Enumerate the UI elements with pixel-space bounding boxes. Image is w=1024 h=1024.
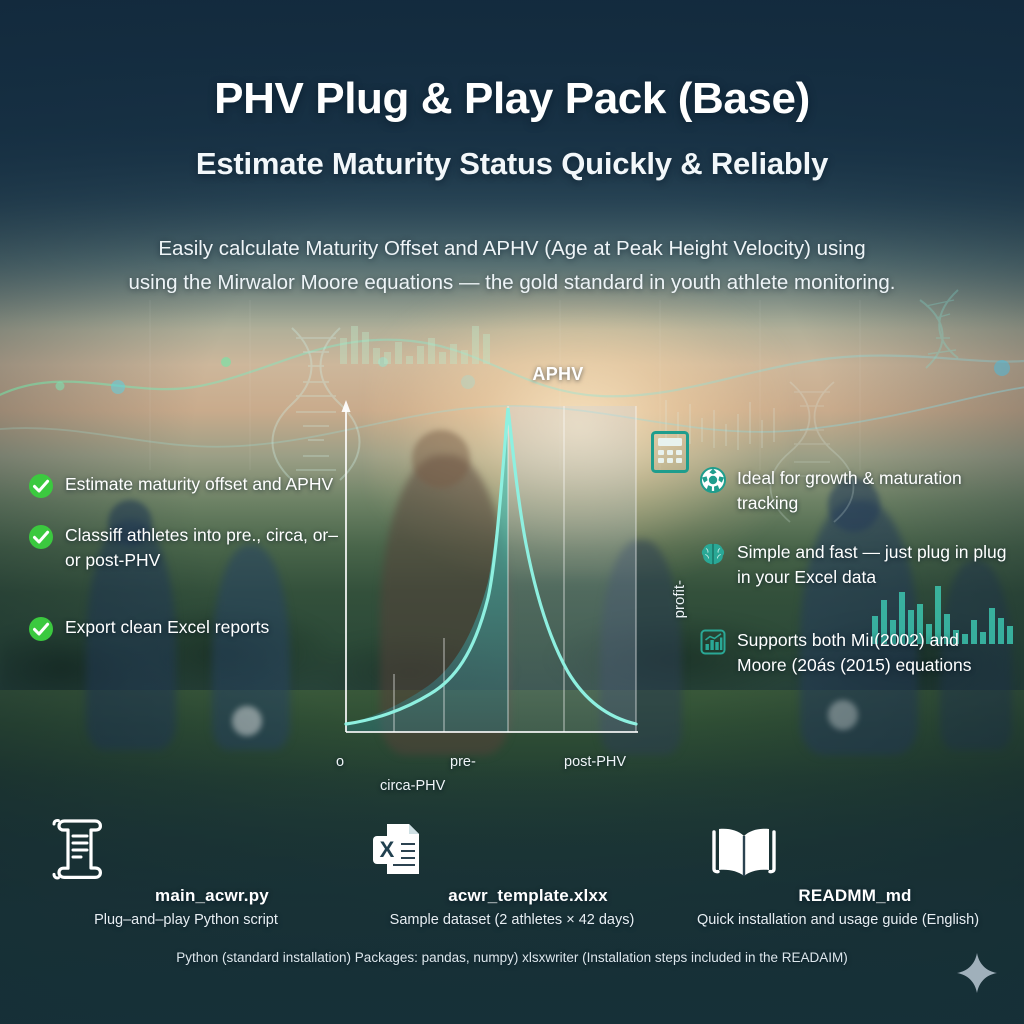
green-check-icon (28, 524, 54, 550)
lede-line-2: using the Mirwalor Moore equations — the… (62, 266, 962, 300)
feature-item: Classiff athletes into pre., circa, or–o… (28, 523, 348, 573)
file-card-excel-template[interactable]: X acwr_template.xlxx Sample dataset (2 a… (349, 818, 675, 928)
chart-plot-area (332, 392, 672, 752)
script-scroll-icon (49, 818, 105, 880)
feature-item: Estimate maturity offset and APHV (28, 472, 348, 499)
feature-label: Simple and fast — just plug in plug in y… (737, 540, 1012, 590)
file-description: Sample dataset (2 athletes × 42 days) (349, 912, 675, 928)
feature-label: Supports both Miı(2002) and Moore (20ás … (737, 628, 1012, 678)
chart-peak-label: APHV (388, 364, 728, 385)
green-check-icon (28, 616, 54, 642)
feature-label: Export clean Excel reports (65, 615, 269, 640)
feature-list-left: Estimate maturity offset and APHV Classi… (28, 472, 348, 666)
chart-tick-post-phv: post-PHV (564, 754, 626, 770)
chart-tick-pre: pre- (450, 754, 476, 770)
lede-line-1: Easily calculate Maturity Offset and APH… (62, 232, 962, 266)
calculator-icon (651, 431, 689, 473)
page-subtitle: Estimate Maturity Status Quickly & Relia… (0, 146, 1024, 182)
poster-canvas: PHV Plug & Play Pack (Base) Estimate Mat… (0, 0, 1024, 1024)
svg-text:X: X (380, 837, 395, 862)
file-icon-wrap: X (349, 818, 675, 880)
file-name: READMM_md (709, 886, 1001, 906)
page-lede: Easily calculate Maturity Offset and APH… (62, 232, 962, 300)
file-icon-wrap (23, 818, 349, 880)
green-check-icon (28, 473, 54, 499)
feature-item: Simple and fast — just plug in plug in y… (700, 540, 1012, 590)
feature-label: Classiff athletes into pre., circa, or–o… (65, 523, 348, 573)
chart-y-axis-label: profit- (671, 580, 688, 618)
open-book-icon (711, 824, 777, 880)
feature-label: Estimate maturity offset and APHV (65, 472, 333, 497)
chart-tick-circa-phv: circa-PHV (380, 778, 445, 794)
footer-note: Python (standard installation) Packages:… (0, 950, 1024, 965)
excel-file-icon: X (371, 820, 423, 880)
file-name: main_acwr.py (75, 886, 349, 906)
bar-chart-icon (700, 629, 726, 655)
sparkle-icon (956, 952, 998, 994)
brain-icon (700, 541, 726, 567)
soccer-ball-icon (700, 467, 726, 493)
chart-area-fill (346, 406, 508, 732)
file-description: Quick installation and usage guide (Engl… (675, 912, 1001, 928)
chart-x-axis-labels: o circa-PHV pre- post-PHV (332, 754, 672, 810)
feature-item: Supports both Miı(2002) and Moore (20ás … (700, 628, 1012, 678)
feature-item: Export clean Excel reports (28, 615, 348, 642)
phv-velocity-chart: APHV (332, 392, 672, 752)
file-card-readme[interactable]: READMM_md Quick installation and usage g… (675, 818, 1001, 928)
feature-item: Ideal for growth & maturation tracking (700, 466, 1012, 516)
file-card-python-script[interactable]: main_acwr.py Plug–and–play Python script (23, 818, 349, 928)
chart-post-phv-panel (508, 406, 636, 732)
file-name: acwr_template.xlxx (381, 886, 675, 906)
file-description: Plug–and–play Python script (23, 912, 349, 928)
feature-list-right: Ideal for growth & maturation tracking S… (700, 466, 1012, 702)
feature-label: Ideal for growth & maturation tracking (737, 466, 1012, 516)
file-icon-wrap (675, 818, 1001, 880)
page-title: PHV Plug & Play Pack (Base) (0, 74, 1024, 124)
chart-tick-0: o (336, 754, 344, 770)
deliverables-row: main_acwr.py Plug–and–play Python script… (0, 818, 1024, 928)
